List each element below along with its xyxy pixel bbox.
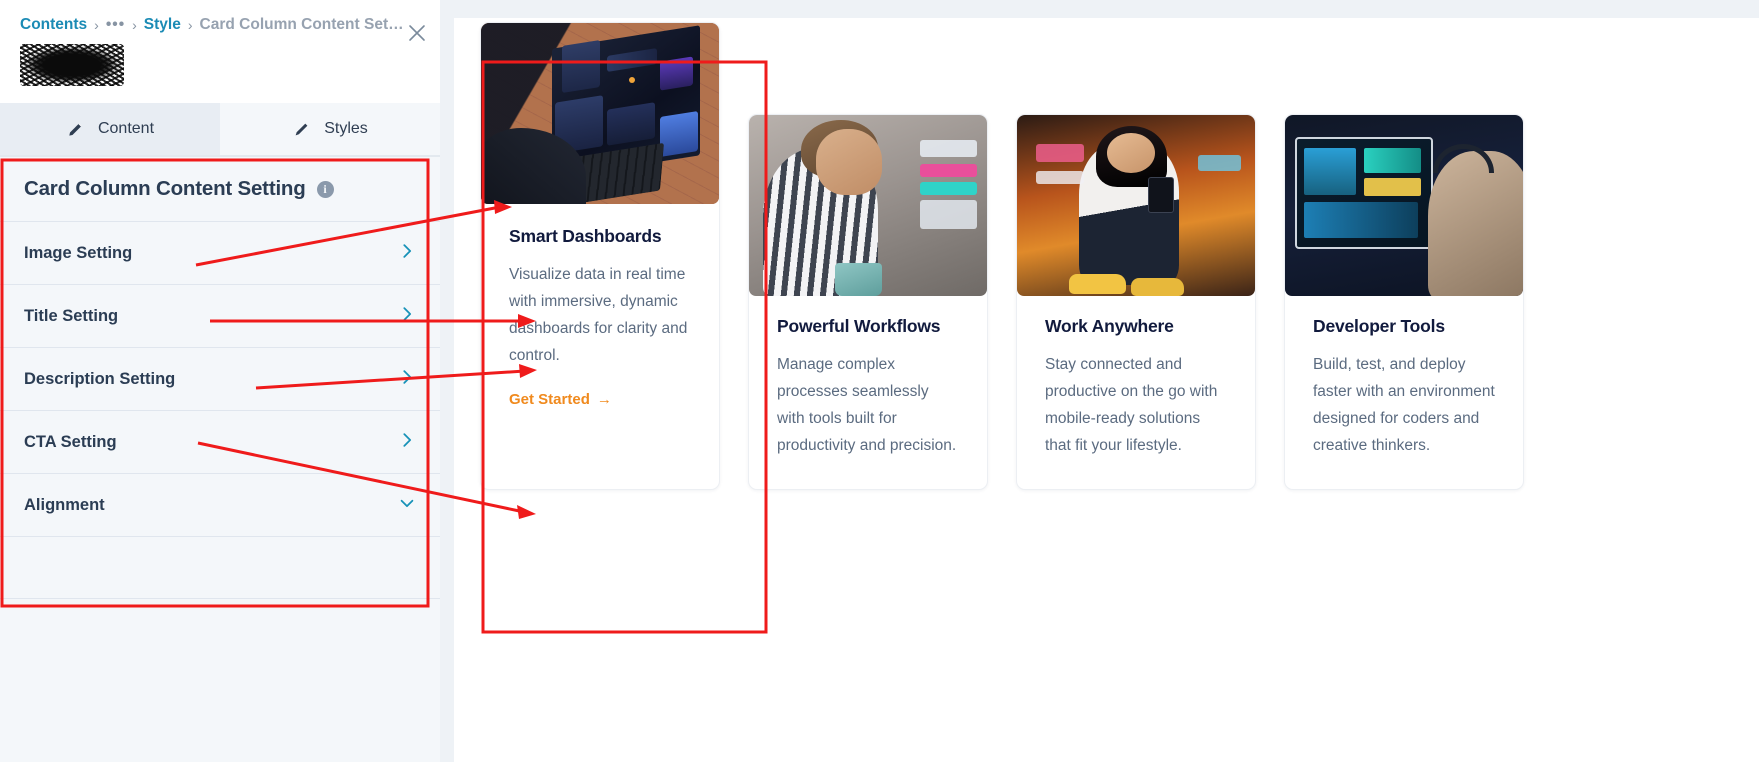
card-image [1017,115,1255,296]
tab-styles[interactable]: Styles [220,103,440,155]
app-root: Contents › ••• › Style › Card Column Con… [0,0,1759,762]
preview-canvas: Smart Dashboards Visualize data in real … [454,18,1759,762]
developer-monitor-photo [1285,115,1523,296]
breadcrumb-ellipsis[interactable]: ••• [106,16,125,34]
chevron-right-icon[interactable] [398,431,416,454]
card-body: Developer Tools Build, test, and deploy … [1285,296,1523,489]
card-title: Smart Dashboards [509,226,691,247]
card-image [749,115,987,296]
setting-row-cta-setting[interactable]: CTA Setting [0,411,440,474]
setting-row-alignment[interactable]: Alignment [0,474,440,537]
setting-label: CTA Setting [24,433,117,452]
panel-tabs: Content Styles [0,103,440,156]
card-cta-link[interactable]: Get Started → [509,391,612,408]
card-description: Stay connected and productive on the go … [1045,351,1227,459]
setting-row-description-setting[interactable]: Description Setting [0,348,440,411]
redacted-title [20,44,124,86]
card-image [481,23,719,204]
chevron-right-icon[interactable] [398,242,416,265]
chevron-right-icon[interactable] [398,368,416,391]
setting-label: Alignment [24,496,105,515]
page-title: Card Column Content Setting [24,177,306,201]
card-item[interactable]: Smart Dashboards Visualize data in real … [480,22,720,490]
settings-panel-footer [0,537,440,599]
card-column-list: Smart Dashboards Visualize data in real … [454,18,1759,490]
pencil-icon [66,120,85,139]
breadcrumb-separator-icon: › [94,17,99,33]
breadcrumb-separator-icon: › [132,17,137,33]
tab-content-label: Content [98,120,154,138]
sidebar-header: Contents › ••• › Style › Card Column Con… [0,0,440,103]
setting-label: Description Setting [24,370,175,389]
breadcrumb: Contents › ••• › Style › Card Column Con… [20,16,420,34]
setting-row-title-setting[interactable]: Title Setting [0,285,440,348]
card-description: Manage complex processes seamlessly with… [777,351,959,459]
settings-sidebar: Contents › ••• › Style › Card Column Con… [0,0,440,762]
breadcrumb-separator-icon: › [188,17,193,33]
laptop-dashboard-photo [481,23,719,204]
card-item[interactable]: Work Anywhere Stay connected and product… [1016,114,1256,490]
card-title: Work Anywhere [1045,316,1227,337]
card-body: Powerful Workflows Manage complex proces… [749,296,987,489]
setting-label: Title Setting [24,307,118,326]
preview-area: Smart Dashboards Visualize data in real … [440,0,1759,762]
card-description: Build, test, and deploy faster with an e… [1313,351,1495,459]
mobile-outdoors-photo [1017,115,1255,296]
tab-styles-label: Styles [324,120,368,138]
settings-panel-header: Card Column Content Setting i [0,157,440,222]
breadcrumb-current: Card Column Content Set… [200,16,404,34]
pencil-icon [292,120,311,139]
card-description: Visualize data in real time with immersi… [509,261,691,369]
info-icon[interactable]: i [317,181,334,198]
chevron-down-icon[interactable] [398,494,416,517]
card-body: Smart Dashboards Visualize data in real … [481,204,719,443]
card-column-content-setting-panel: Card Column Content Setting i Image Sett… [0,156,440,599]
tab-content[interactable]: Content [0,103,220,155]
close-icon[interactable] [406,22,428,44]
card-title: Developer Tools [1313,316,1495,337]
card-image [1285,115,1523,296]
card-item[interactable]: Developer Tools Build, test, and deploy … [1284,114,1524,490]
card-cta-label: Get Started [509,391,590,408]
card-body: Work Anywhere Stay connected and product… [1017,296,1255,489]
breadcrumb-contents[interactable]: Contents [20,16,87,34]
setting-label: Image Setting [24,244,132,263]
setting-row-image-setting[interactable]: Image Setting [0,222,440,285]
card-item[interactable]: Powerful Workflows Manage complex proces… [748,114,988,490]
woman-desk-ui-photo [749,115,987,296]
arrow-right-icon: → [597,391,612,408]
card-title: Powerful Workflows [777,316,959,337]
chevron-right-icon[interactable] [398,305,416,328]
sidebar-empty-area [0,599,440,762]
breadcrumb-style[interactable]: Style [144,16,181,34]
